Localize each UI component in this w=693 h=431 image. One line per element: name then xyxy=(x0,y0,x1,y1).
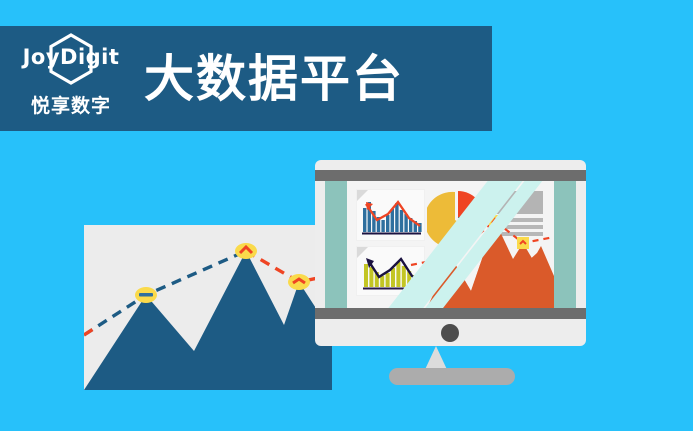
poster-canvas: JoyDigit 悦享数字 大数据平台 xyxy=(0,0,693,431)
page-title: 大数据平台 xyxy=(144,54,404,104)
orange-area-chart xyxy=(347,181,554,308)
monitor-top-bezel xyxy=(315,170,586,181)
data-point-marker xyxy=(517,237,529,249)
left-chart-panel xyxy=(84,225,332,390)
mountain-shape-orange xyxy=(427,221,554,308)
dashed-line-red-tail xyxy=(84,326,98,335)
mountain-shape-left xyxy=(84,251,332,390)
header-banner: JoyDigit 悦享数字 大数据平台 xyxy=(0,26,492,131)
data-point-marker xyxy=(288,274,310,290)
monitor-stand-base xyxy=(389,368,515,385)
monitor-screen xyxy=(325,181,576,308)
logo-subtitle: 悦享数字 xyxy=(12,91,130,118)
monitor-bottom-bezel xyxy=(315,308,586,319)
dashboard-content xyxy=(347,181,554,308)
screen-right-strip xyxy=(554,181,576,308)
logo-wordmark: JoyDigit xyxy=(12,45,130,69)
left-area-chart xyxy=(84,225,332,390)
brand-logo: JoyDigit 悦享数字 xyxy=(12,29,130,129)
data-point-marker xyxy=(489,215,501,227)
data-point-marker xyxy=(135,287,157,303)
data-point-marker xyxy=(235,243,257,259)
desktop-monitor xyxy=(315,160,586,346)
data-point-marker xyxy=(445,251,457,263)
screen-left-strip xyxy=(325,181,347,308)
power-button[interactable] xyxy=(441,324,459,342)
